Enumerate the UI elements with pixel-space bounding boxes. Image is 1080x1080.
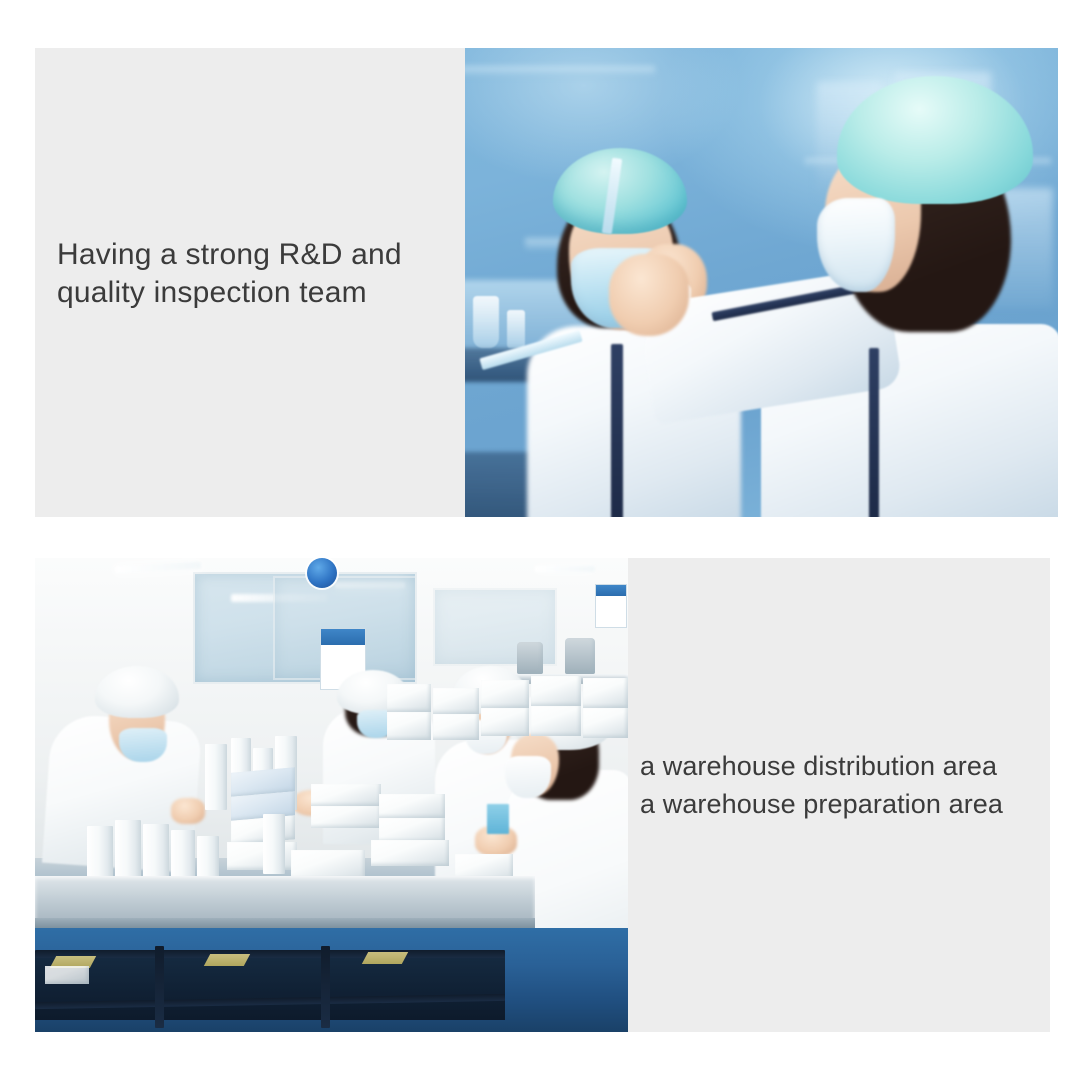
carton-stack-e2 [583, 708, 628, 738]
warehouse-packing-photo [35, 558, 628, 1032]
warehouse-table-undershadow [35, 956, 505, 1020]
worker-4-face-mask [505, 756, 551, 798]
bottom-caption-line-1: a warehouse distribution area [640, 747, 1050, 785]
carton-mid-4 [227, 842, 297, 870]
warehouse-floor-marking-3 [362, 952, 408, 964]
warehouse-round-sign [307, 558, 337, 588]
worker-4-product-card [487, 804, 509, 834]
carton-stack-c1 [481, 680, 529, 708]
carton-right-4 [379, 818, 445, 842]
warehouse-canister-1 [517, 642, 543, 674]
technician-a-coat-placket [611, 344, 623, 517]
lab-beaker-left [473, 296, 499, 348]
top-panel: Having a strong R&D and quality inspecti… [35, 48, 1058, 517]
warehouse-canister-2 [565, 638, 595, 674]
lab-scene [465, 48, 1058, 517]
warehouse-scene [35, 558, 628, 1032]
warehouse-ceiling-light-far [535, 566, 595, 572]
top-caption-line-1: Having a strong R&D and [57, 236, 457, 274]
top-caption: Having a strong R&D and quality inspecti… [57, 236, 457, 313]
warehouse-under-table-box [45, 966, 89, 984]
warehouse-steel-table [35, 876, 535, 922]
lab-quality-inspection-photo [465, 48, 1058, 517]
carton-stack-b1 [433, 688, 479, 714]
technician-b-hand [609, 254, 689, 336]
carton-stack-c2 [481, 708, 529, 736]
technician-b-coat-placket [869, 348, 879, 517]
carton-stack-a2 [387, 712, 431, 740]
front-carton-flat-2 [371, 840, 449, 866]
carton-right-2 [311, 806, 381, 828]
top-caption-line-2: quality inspection team [57, 274, 457, 312]
bottom-caption-line-2: a warehouse preparation area [640, 785, 1050, 823]
carton-stack-b2 [433, 714, 479, 740]
warehouse-table-leg-2 [321, 946, 330, 1028]
warehouse-table-edge [35, 918, 535, 928]
worker-1-hand [171, 798, 205, 824]
bottom-panel: a warehouse distribution area a warehous… [35, 558, 1050, 1032]
lab-shelf-upper-left [465, 66, 655, 76]
front-bottle-6 [263, 814, 285, 874]
carton-stack-d1 [531, 676, 581, 706]
warehouse-table-leg-1 [155, 946, 164, 1028]
warehouse-notice-far-right [595, 584, 627, 628]
carton-stack-e1 [583, 678, 628, 708]
warehouse-table-rail-top [35, 950, 505, 958]
carton-right-3 [379, 794, 445, 818]
worker-1-face-mask [119, 728, 167, 762]
product-bottle-1 [205, 744, 227, 810]
warehouse-floor-marking-2 [204, 954, 250, 966]
carton-right-1 [311, 784, 381, 806]
carton-stack-d2 [531, 706, 581, 736]
carton-stack-a1 [387, 684, 431, 712]
bottom-caption: a warehouse distribution area a warehous… [640, 747, 1050, 824]
lab-vial-left [507, 310, 525, 348]
